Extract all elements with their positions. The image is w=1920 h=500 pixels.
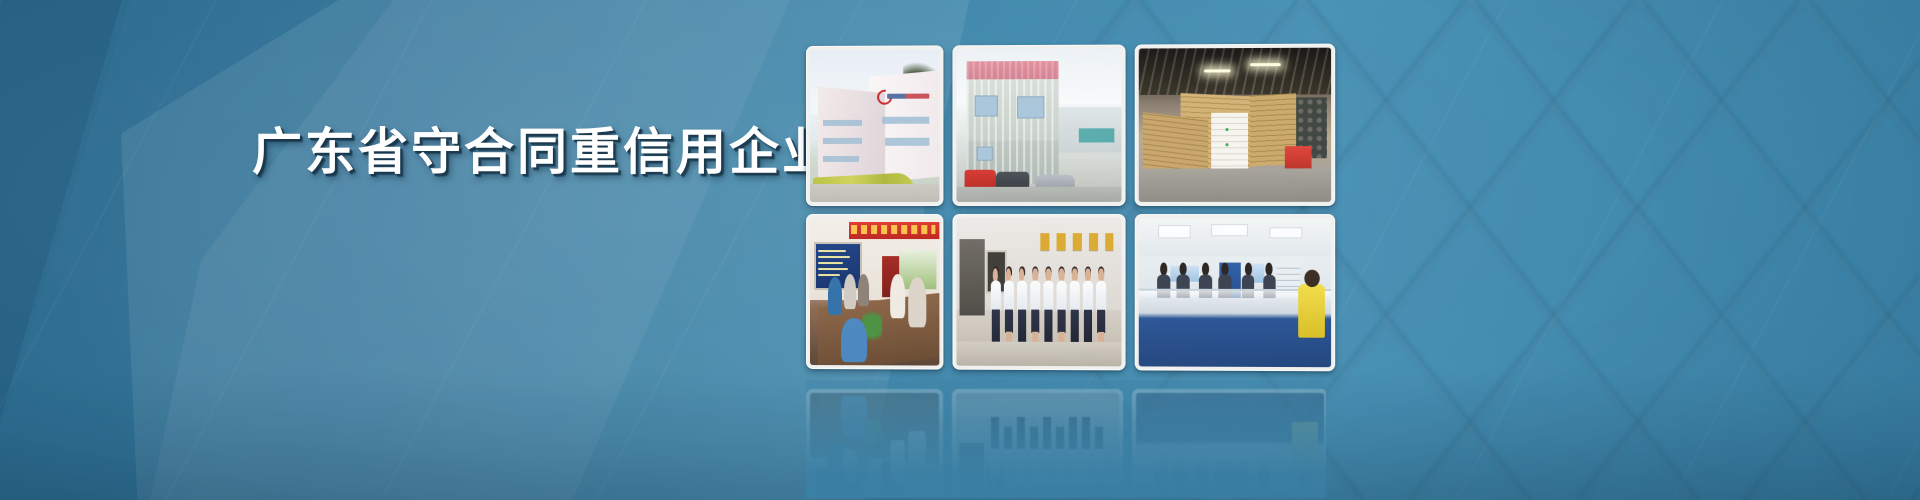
- meeting-room-image: [810, 218, 939, 366]
- driveway: [810, 184, 939, 202]
- staff-member: [1003, 268, 1015, 345]
- banner-headline: 广东省守合同重信用企业: [252, 124, 835, 182]
- company-name-sign: [888, 94, 929, 99]
- photo-gallery-grid: [806, 44, 1333, 381]
- staff-member: [1095, 268, 1107, 345]
- ceiling-lamp: [1204, 70, 1231, 73]
- staff-member: [989, 268, 1001, 345]
- attendee: [908, 277, 926, 327]
- attendee: [844, 274, 857, 309]
- office-worker-foreground: [1298, 284, 1325, 338]
- window-strip: [823, 120, 862, 126]
- warehouse-ceiling: [1139, 48, 1331, 95]
- company-honor-banner: 广东省守合同重信用企业: [0, 0, 1920, 500]
- staff-member: [1042, 268, 1054, 345]
- window-strip: [885, 138, 929, 146]
- banner-text-strip: [851, 225, 935, 234]
- window-strip: [882, 117, 929, 125]
- staff-member: [1055, 268, 1067, 345]
- staff-member: [1029, 268, 1041, 345]
- warehouse-photo[interactable]: [1135, 44, 1335, 206]
- attendee: [890, 274, 906, 318]
- doorway: [960, 239, 985, 316]
- green-signboard: [1078, 128, 1114, 142]
- attendee: [828, 277, 842, 315]
- pink-roof-panel: [966, 61, 1058, 81]
- factory-exterior-image: [957, 49, 1122, 202]
- window: [1017, 96, 1044, 118]
- parking-ground: [957, 187, 1122, 202]
- attendee-foreground: [841, 318, 867, 362]
- ceiling-light-panel: [1158, 225, 1191, 237]
- bag-label-dot: [1225, 143, 1228, 146]
- staff-team-photo[interactable]: [952, 214, 1125, 370]
- window: [976, 147, 993, 161]
- office-building-image: [810, 49, 939, 202]
- staff-member: [1069, 268, 1081, 345]
- office-workspace-image: [1139, 218, 1331, 367]
- staff-member: [1082, 268, 1094, 345]
- company-name-wall-sign: [1040, 233, 1113, 251]
- window-strip: [823, 156, 859, 162]
- factory-exterior-photo[interactable]: [952, 45, 1125, 206]
- white-bag-stack: [1212, 113, 1249, 171]
- background-floor-gradient: [0, 370, 1920, 500]
- warehouse-floor: [1139, 168, 1331, 202]
- building-wing-left: [818, 86, 885, 187]
- window-strip: [823, 138, 862, 144]
- staff-team-image: [957, 218, 1122, 366]
- office-building-photo[interactable]: [806, 45, 943, 206]
- ceiling-lamp: [1250, 63, 1281, 66]
- meeting-room-photo[interactable]: [806, 214, 943, 370]
- office-workspace-photo[interactable]: [1135, 214, 1335, 371]
- ceiling-light-panel: [1269, 227, 1302, 238]
- staff-member: [1016, 268, 1028, 345]
- bag-label-dot: [1225, 128, 1228, 131]
- ceiling-light-panel: [1212, 224, 1249, 236]
- warehouse-image: [1139, 48, 1331, 202]
- window: [975, 95, 998, 117]
- attendee: [858, 274, 870, 306]
- lobby-floor: [957, 342, 1122, 366]
